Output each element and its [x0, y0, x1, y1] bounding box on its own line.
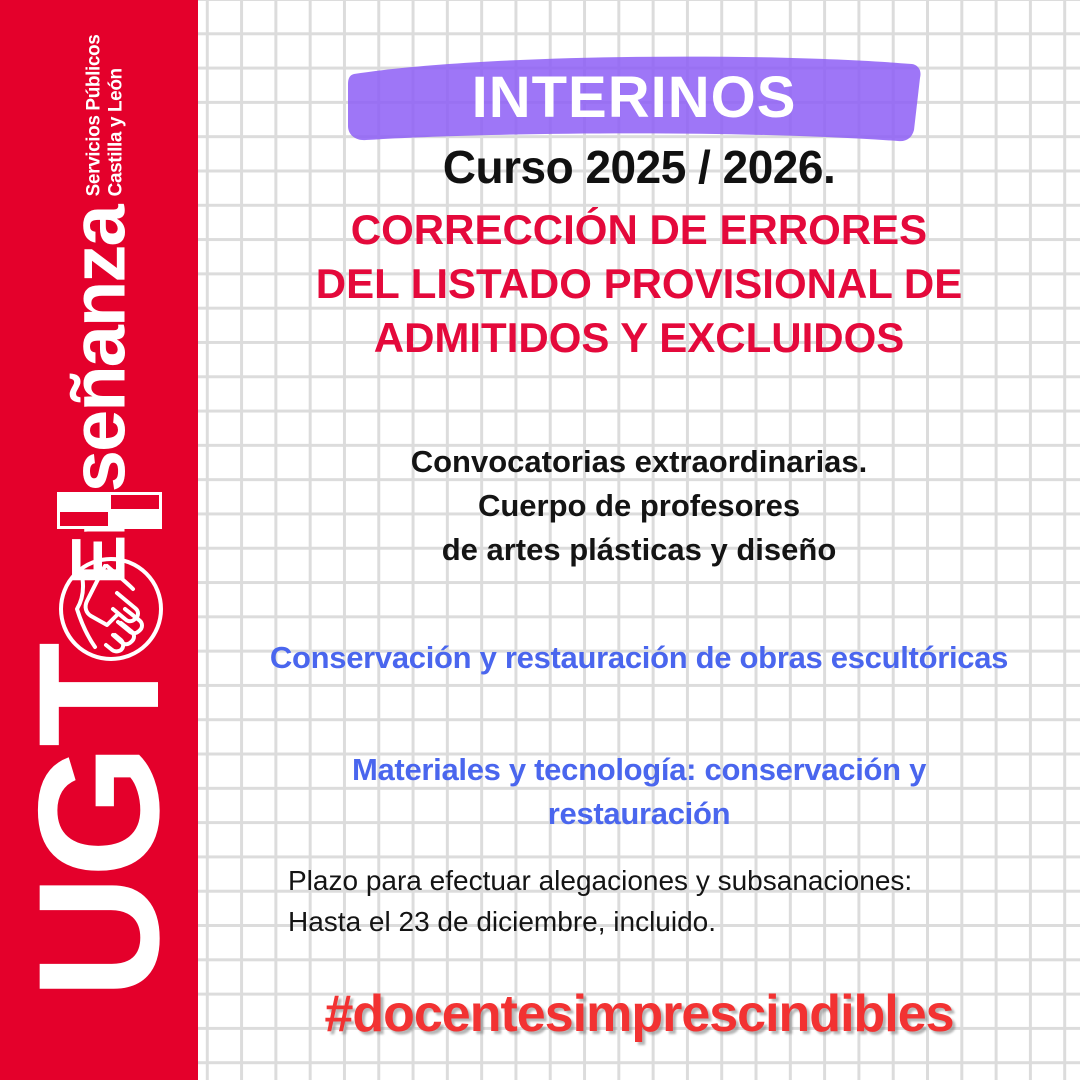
specialty-item-2-line-1: Materiales y tecnología: conservación y: [258, 748, 1020, 792]
brand-sidebar: Enseñanza Servicios Públicos Castilla y …: [0, 0, 198, 1080]
interinos-banner: INTERINOS: [344, 52, 924, 142]
specialty-item-2: Materiales y tecnología: conservación y …: [258, 748, 1020, 836]
flag-quadrant-bottom-left: [60, 512, 108, 526]
headline-line-3: ADMITIDOS Y EXCLUIDOS: [198, 311, 1080, 365]
body-line-1: Convocatorias extraordinarias.: [198, 440, 1080, 484]
body-description-block: Convocatorias extraordinarias. Cuerpo de…: [198, 440, 1080, 572]
ensenanza-subtitle: Servicios Públicos Castilla y León: [84, 35, 128, 197]
headline-line-2: DEL LISTADO PROVISIONAL DE: [198, 257, 1080, 311]
specialty-item-1: Conservación y restauración de obras esc…: [198, 640, 1080, 676]
deadline-block: Plazo para efectuar alegaciones y subsan…: [288, 860, 1048, 943]
banner-label: INTERINOS: [344, 52, 924, 142]
poster-canvas: Enseñanza Servicios Públicos Castilla y …: [0, 0, 1080, 1080]
body-line-2: Cuerpo de profesores: [198, 484, 1080, 528]
ugt-acronym: UGT: [13, 645, 185, 999]
specialty-item-2-line-2: restauración: [258, 792, 1020, 836]
campaign-hashtag: #docentesimprescindibles: [198, 984, 1080, 1044]
flag-quadrant-top-right: [111, 495, 159, 509]
deadline-line-2: Hasta el 23 de diciembre, incluido.: [288, 901, 1048, 942]
body-line-3: de artes plásticas y diseño: [198, 528, 1080, 572]
course-year-line: Curso 2025 / 2026.: [198, 140, 1080, 194]
flag-quadrant-bottom-right: [111, 512, 159, 526]
flag-quadrant-top-left: [60, 495, 108, 509]
headline-block: CORRECCIÓN DE ERRORES DEL LISTADO PROVIS…: [198, 203, 1080, 364]
deadline-line-1: Plazo para efectuar alegaciones y subsan…: [288, 860, 1048, 901]
poster-content: INTERINOS Curso 2025 / 2026. CORRECCIÓN …: [198, 0, 1080, 1080]
checker-flag-icon: [57, 492, 162, 529]
headline-line-1: CORRECCIÓN DE ERRORES: [198, 203, 1080, 257]
ensenanza-subtitle-line1: Servicios Públicos: [84, 35, 106, 197]
ensenanza-subtitle-line2: Castilla y León: [106, 35, 128, 197]
